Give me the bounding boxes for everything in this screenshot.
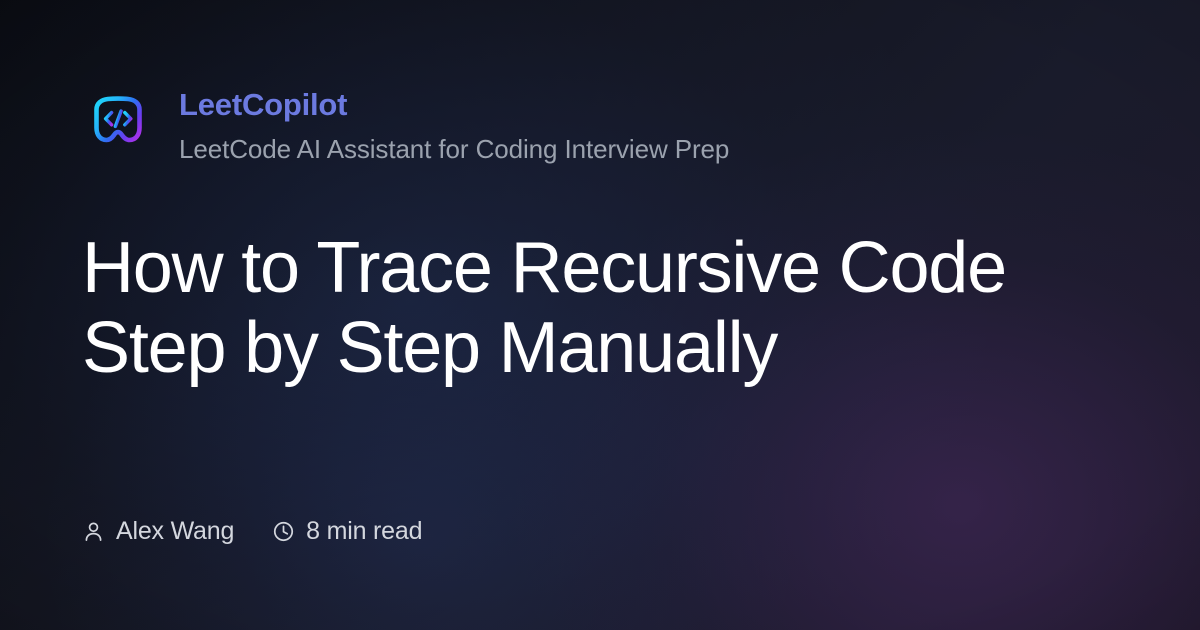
meta-read-time: 8 min read (272, 516, 422, 546)
banner-content: LeetCopilot LeetCode AI Assistant for Co… (0, 0, 1200, 630)
vr-headset-code-icon (82, 88, 154, 160)
clock-icon (272, 520, 295, 543)
og-banner: LeetCopilot LeetCode AI Assistant for Co… (0, 0, 1200, 630)
article-title: How to Trace Recursive Code Step by Step… (82, 228, 1092, 388)
meta-author: Alex Wang (82, 516, 234, 546)
brand-name: LeetCopilot (179, 86, 729, 124)
brand-text-block: LeetCopilot LeetCode AI Assistant for Co… (179, 86, 729, 166)
article-meta: Alex Wang 8 min read (82, 516, 422, 546)
brand-header: LeetCopilot LeetCode AI Assistant for Co… (82, 86, 729, 166)
brand-tagline: LeetCode AI Assistant for Coding Intervi… (179, 132, 729, 166)
person-icon (82, 520, 105, 543)
meta-author-label: Alex Wang (116, 516, 234, 546)
meta-read-time-label: 8 min read (306, 516, 422, 546)
